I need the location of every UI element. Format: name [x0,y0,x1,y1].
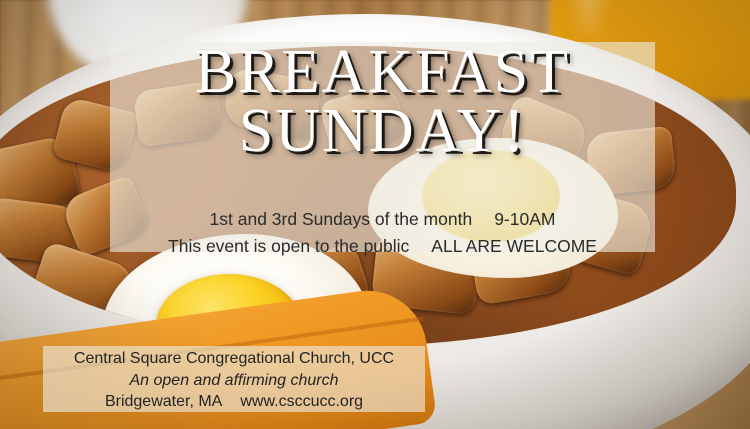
schedule-time: 9-10AM [494,209,555,229]
public-notice: This event is open to the public [168,236,409,256]
church-name: Central Square Congregational Church, UC… [43,348,425,370]
title-line-breakfast: BREAKFAST [110,44,655,101]
poster-title: BREAKFAST SUNDAY! [110,44,655,160]
church-city: Bridgewater, MA [105,393,222,410]
welcome-notice: ALL ARE WELCOME [431,236,597,256]
church-location-line: Bridgewater, MAwww.csccucc.org [43,391,425,413]
event-audience-line: This event is open to the publicALL ARE … [110,233,655,260]
event-schedule-line: 1st and 3rd Sundays of the month9-10AM [110,206,655,233]
title-line-sunday: SUNDAY! [110,103,655,160]
church-information: Central Square Congregational Church, UC… [43,348,425,413]
event-details: 1st and 3rd Sundays of the month9-10AM T… [110,206,655,260]
church-website[interactable]: www.csccucc.org [240,393,363,410]
schedule-days: 1st and 3rd Sundays of the month [210,209,473,229]
breakfast-sunday-poster: BREAKFAST SUNDAY! 1st and 3rd Sundays of… [0,0,750,429]
church-tagline: An open and affirming church [43,370,425,392]
